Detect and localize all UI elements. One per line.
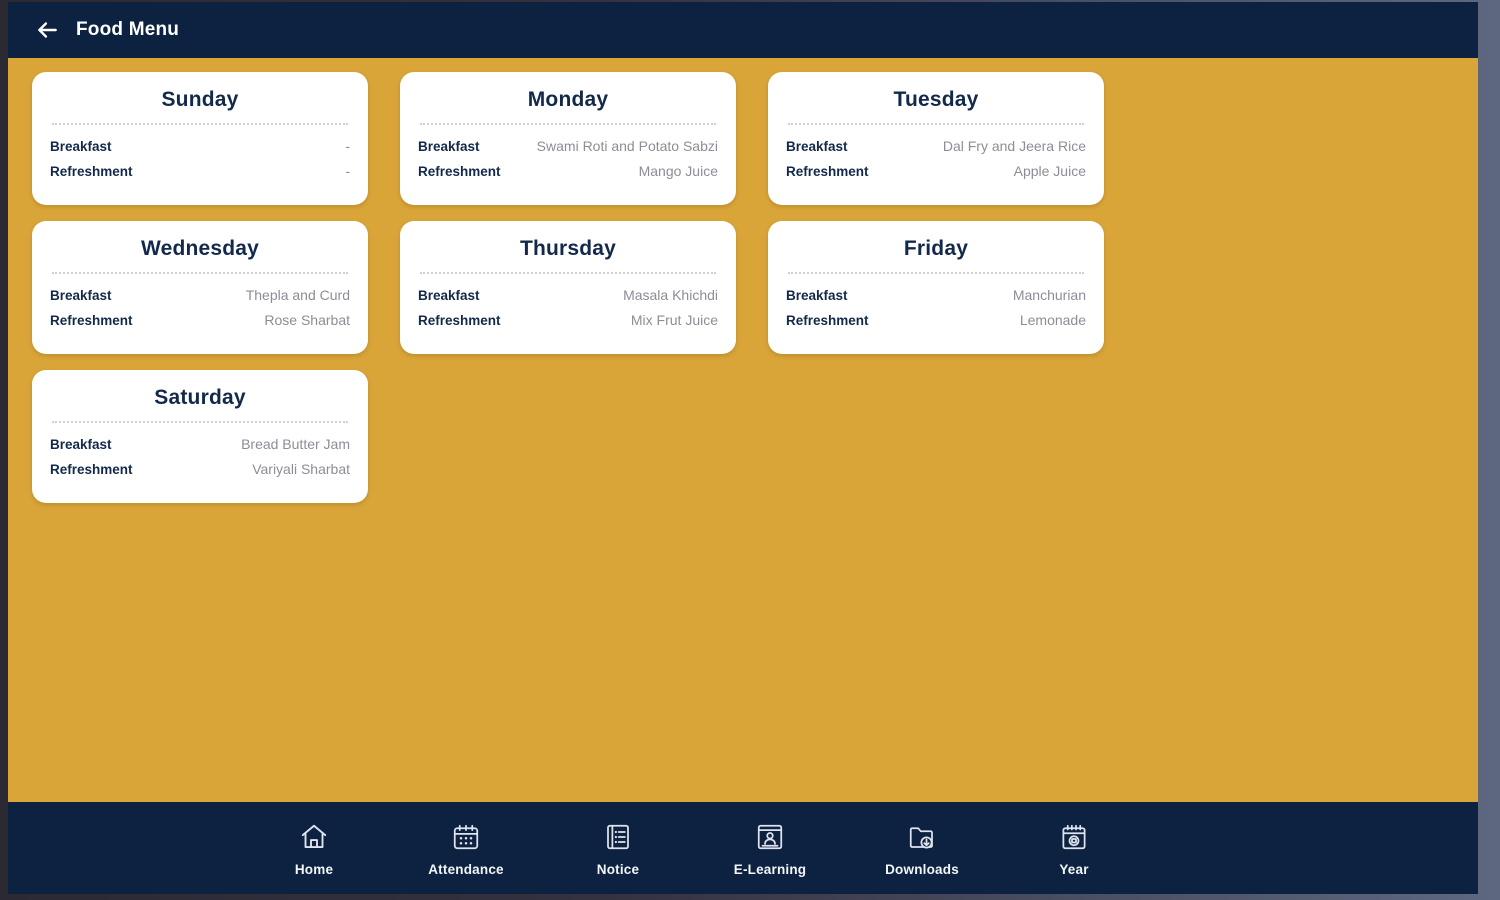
nav-item-downloads[interactable]: Downloads — [868, 820, 976, 877]
day-title: Thursday — [416, 237, 720, 272]
meal-row-refreshment: Refreshment Rose Sharbat — [48, 308, 352, 333]
list-document-icon — [600, 820, 636, 854]
meal-value: Masala Khichdi — [623, 285, 718, 305]
app-header: Food Menu — [8, 2, 1478, 58]
day-title: Sunday — [48, 88, 352, 123]
meal-value: Manchurian — [1013, 285, 1086, 305]
card-divider — [52, 272, 348, 274]
day-title: Friday — [784, 237, 1088, 272]
nav-label: Downloads — [885, 862, 959, 877]
meal-row-breakfast: Breakfast Dal Fry and Jeera Rice — [784, 134, 1088, 159]
day-card: Thursday Breakfast Masala Khichdi Refres… — [400, 221, 736, 354]
meal-row-refreshment: Refreshment Apple Juice — [784, 159, 1088, 184]
bottom-navigation-bar: Home — [8, 802, 1478, 894]
device-frame: Food Menu Sunday Breakfast - Refreshment… — [0, 0, 1500, 900]
meal-label: Refreshment — [418, 311, 501, 331]
meal-value: Mix Frut Juice — [631, 310, 718, 330]
meal-row-refreshment: Refreshment Lemonade — [784, 308, 1088, 333]
meal-value: Bread Butter Jam — [241, 434, 350, 454]
home-icon — [296, 820, 332, 854]
meal-label: Refreshment — [418, 162, 501, 182]
nav-item-attendance[interactable]: Attendance — [412, 820, 520, 877]
card-divider — [52, 123, 348, 125]
meal-row-breakfast: Breakfast Manchurian — [784, 283, 1088, 308]
food-menu-grid: Sunday Breakfast - Refreshment - Monday — [20, 72, 1466, 503]
meal-value: Variyali Sharbat — [252, 459, 350, 479]
folder-download-icon — [904, 820, 940, 854]
meal-row-breakfast: Breakfast Bread Butter Jam — [48, 432, 352, 457]
nav-item-home[interactable]: Home — [260, 820, 368, 877]
meal-label: Refreshment — [786, 311, 869, 331]
day-card: Friday Breakfast Manchurian Refreshment … — [768, 221, 1104, 354]
card-divider — [420, 123, 716, 125]
meal-label: Breakfast — [786, 286, 848, 306]
arrow-left-icon[interactable] — [34, 17, 60, 43]
nav-label: Year — [1059, 862, 1088, 877]
presentation-screen-icon — [752, 820, 788, 854]
day-card: Saturday Breakfast Bread Butter Jam Refr… — [32, 370, 368, 503]
meal-label: Breakfast — [786, 137, 848, 157]
meal-value: Lemonade — [1020, 310, 1086, 330]
meal-value: Dal Fry and Jeera Rice — [943, 136, 1086, 156]
nav-label: Notice — [597, 862, 639, 877]
day-title: Saturday — [48, 386, 352, 421]
meal-value: - — [345, 161, 350, 181]
meal-label: Breakfast — [50, 286, 112, 306]
meal-label: Refreshment — [50, 311, 133, 331]
nav-label: Attendance — [428, 862, 504, 877]
day-card: Monday Breakfast Swami Roti and Potato S… — [400, 72, 736, 205]
calendar-year-icon — [1056, 820, 1092, 854]
meal-row-refreshment: Refreshment Mango Juice — [416, 159, 720, 184]
app-screen: Food Menu Sunday Breakfast - Refreshment… — [8, 2, 1478, 894]
day-title: Monday — [416, 88, 720, 123]
card-divider — [52, 421, 348, 423]
meal-value: Rose Sharbat — [264, 310, 350, 330]
meal-label: Breakfast — [50, 435, 112, 455]
meal-row-refreshment: Refreshment Mix Frut Juice — [416, 308, 720, 333]
meal-row-refreshment: Refreshment - — [48, 159, 352, 184]
meal-label: Breakfast — [418, 137, 480, 157]
card-divider — [788, 123, 1084, 125]
meal-row-breakfast: Breakfast Masala Khichdi — [416, 283, 720, 308]
meal-label: Refreshment — [786, 162, 869, 182]
nav-label: E-Learning — [734, 862, 807, 877]
meal-value: Thepla and Curd — [246, 285, 350, 305]
day-title: Wednesday — [48, 237, 352, 272]
meal-value: Apple Juice — [1014, 161, 1086, 181]
meal-row-breakfast: Breakfast Swami Roti and Potato Sabzi — [416, 134, 720, 159]
meal-value: - — [345, 136, 350, 156]
meal-value: Mango Juice — [639, 161, 718, 181]
meal-label: Refreshment — [50, 162, 133, 182]
day-card: Tuesday Breakfast Dal Fry and Jeera Rice… — [768, 72, 1104, 205]
card-divider — [788, 272, 1084, 274]
nav-item-e-learning[interactable]: E-Learning — [716, 820, 824, 877]
meal-value: Swami Roti and Potato Sabzi — [537, 136, 718, 156]
calendar-dots-icon — [448, 820, 484, 854]
meal-row-breakfast: Breakfast - — [48, 134, 352, 159]
meal-row-refreshment: Refreshment Variyali Sharbat — [48, 457, 352, 482]
nav-item-notice[interactable]: Notice — [564, 820, 672, 877]
day-title: Tuesday — [784, 88, 1088, 123]
page-title: Food Menu — [76, 19, 179, 41]
meal-row-breakfast: Breakfast Thepla and Curd — [48, 283, 352, 308]
nav-item-year[interactable]: Year — [1020, 820, 1128, 877]
meal-label: Breakfast — [50, 137, 112, 157]
nav-label: Home — [295, 862, 333, 877]
meal-label: Breakfast — [418, 286, 480, 306]
day-card: Wednesday Breakfast Thepla and Curd Refr… — [32, 221, 368, 354]
day-card: Sunday Breakfast - Refreshment - — [32, 72, 368, 205]
card-divider — [420, 272, 716, 274]
meal-label: Refreshment — [50, 460, 133, 480]
content-area: Sunday Breakfast - Refreshment - Monday — [8, 58, 1478, 802]
